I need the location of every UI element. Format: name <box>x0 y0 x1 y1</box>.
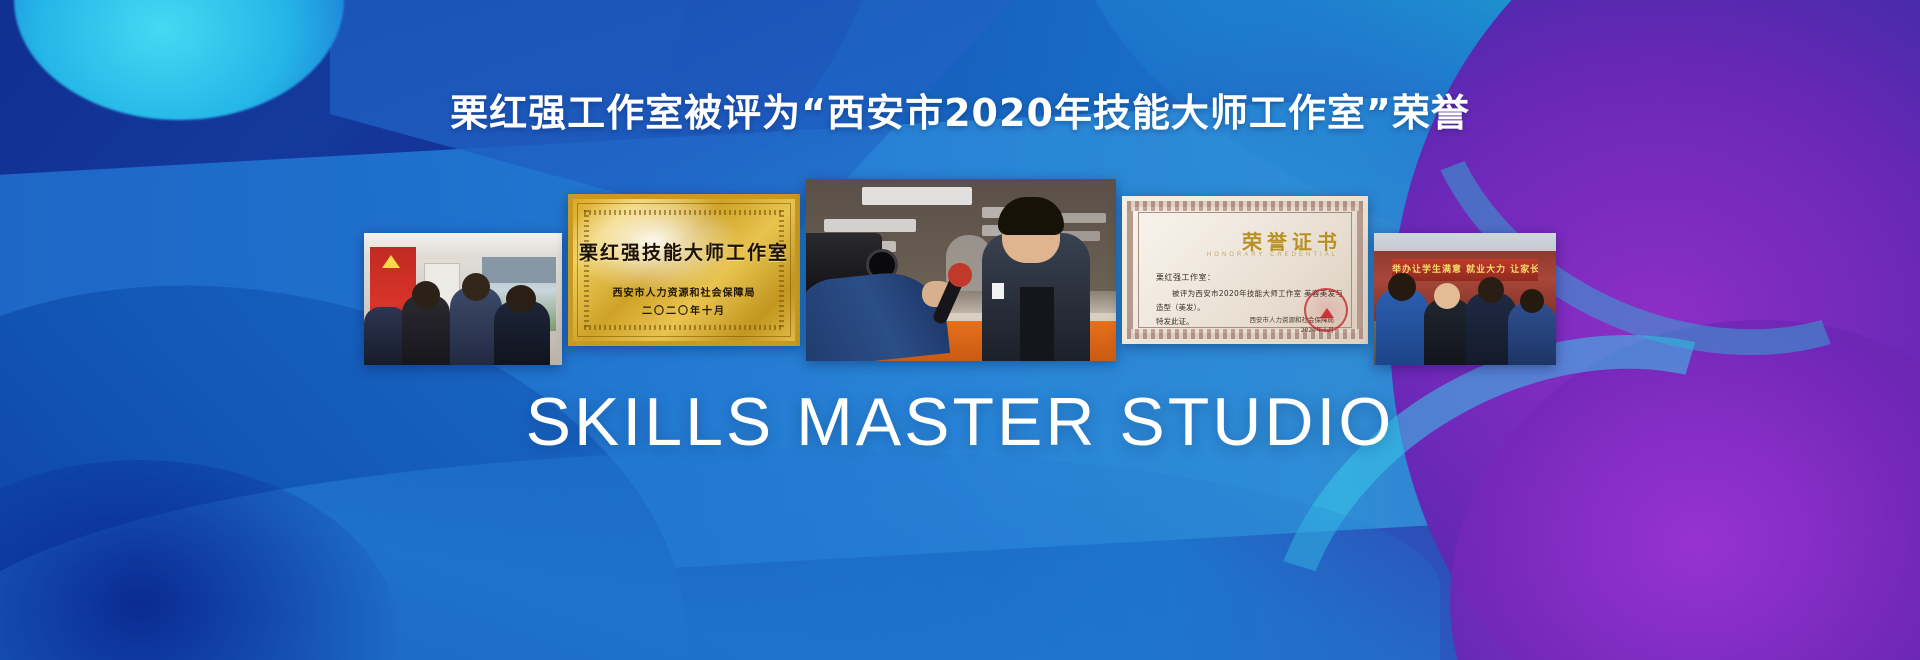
photo-strip: 会议室内三人交谈合影 栗红强技能大师工作室 西安市人力资源和社会保障局 二〇二〇… <box>0 175 1920 365</box>
certificate-scallop-top <box>1127 201 1363 211</box>
wall-text-block <box>824 219 916 232</box>
interview-photo: 让每个人都有人生出彩机会 <box>806 179 1116 361</box>
gold-plaque-photo: 栗红强技能大师工作室 西安市人力资源和社会保障局 二〇二〇年十月 <box>568 194 800 346</box>
certificate-photo: 荣誉证书 HONORARY CREDENTIAL 栗红强工作室： 被评为西安市2… <box>1122 196 1368 344</box>
certificate-line-4: 特发此证。 <box>1156 316 1194 327</box>
person-head <box>1434 283 1460 309</box>
person-head <box>1388 273 1416 301</box>
window-blind <box>482 257 556 283</box>
plaque-dot-border-bottom <box>584 325 784 330</box>
interviewee-shirt <box>1020 287 1054 361</box>
group-in-room-photo: 会议室内三人交谈合影 <box>364 233 562 365</box>
english-wordmark: SKILLS MASTER STUDIO <box>0 388 1920 456</box>
plaque-date-text: 二〇二〇年十月 <box>568 302 800 317</box>
certificate-subtitle: HONORARY CREDENTIAL <box>1207 252 1338 258</box>
plaque-issuer-text: 西安市人力资源和社会保障局 <box>568 284 800 299</box>
person-head <box>1520 289 1544 313</box>
microphone-head <box>948 263 972 287</box>
certificate-line-1: 栗红强工作室： <box>1156 272 1216 283</box>
banner-sign-text: 举办让学生满意 就业大力 让家长满意 <box>1392 262 1538 275</box>
skills-master-studio-banner: 栗红强工作室被评为“西安市2020年技能大师工作室”荣誉 会议室内三人交谈合影 <box>0 0 1920 660</box>
plaque-dot-border-top <box>584 210 784 215</box>
outdoor-group-photo: 举办让学生满意 就业大力 让家长满意 <box>1374 233 1556 365</box>
certificate-title: 荣誉证书 <box>1242 226 1342 255</box>
star-icon <box>382 255 400 268</box>
certificate-line-3: 造型（美发）。 <box>1156 302 1205 313</box>
interviewee-badge <box>992 283 1004 299</box>
person-head <box>1478 277 1504 303</box>
person-head <box>412 281 440 309</box>
person-head <box>506 285 536 313</box>
person-head <box>462 273 490 301</box>
seal-star-icon <box>1320 308 1334 318</box>
plaque-main-text: 栗红强技能大师工作室 <box>568 238 800 265</box>
wall-slogan-block <box>862 187 972 205</box>
banner-title: 栗红强工作室被评为“西安市2020年技能大师工作室”荣誉 <box>0 92 1920 136</box>
